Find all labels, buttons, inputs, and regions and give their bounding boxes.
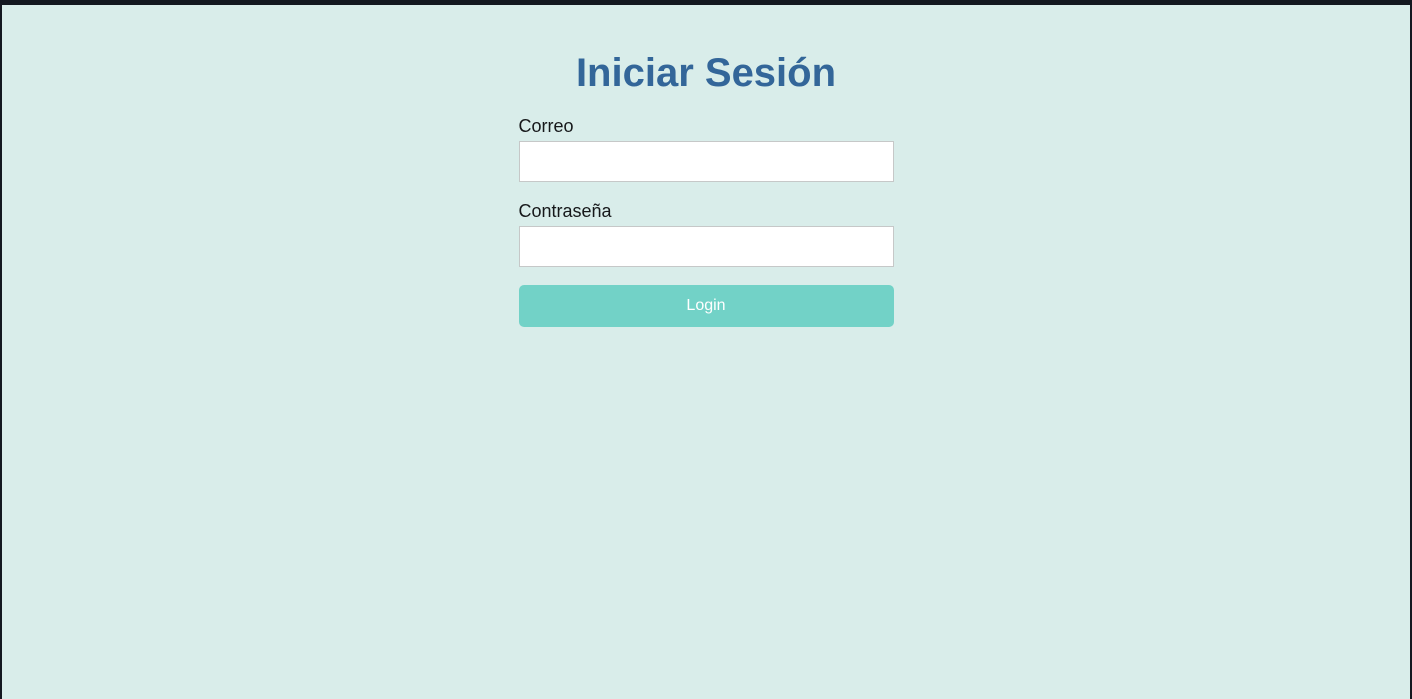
login-container: Iniciar Sesión Correo Contraseña Login bbox=[2, 5, 1410, 327]
login-form: Correo Contraseña Login bbox=[519, 96, 894, 327]
password-input[interactable] bbox=[519, 226, 894, 267]
login-button[interactable]: Login bbox=[519, 285, 894, 327]
password-label: Contraseña bbox=[519, 200, 894, 222]
browser-viewport: Iniciar Sesión Correo Contraseña Login bbox=[0, 0, 1412, 699]
email-input[interactable] bbox=[519, 141, 894, 182]
email-label: Correo bbox=[519, 115, 894, 137]
login-page: Iniciar Sesión Correo Contraseña Login bbox=[2, 5, 1410, 699]
page-title: Iniciar Sesión bbox=[2, 5, 1410, 96]
